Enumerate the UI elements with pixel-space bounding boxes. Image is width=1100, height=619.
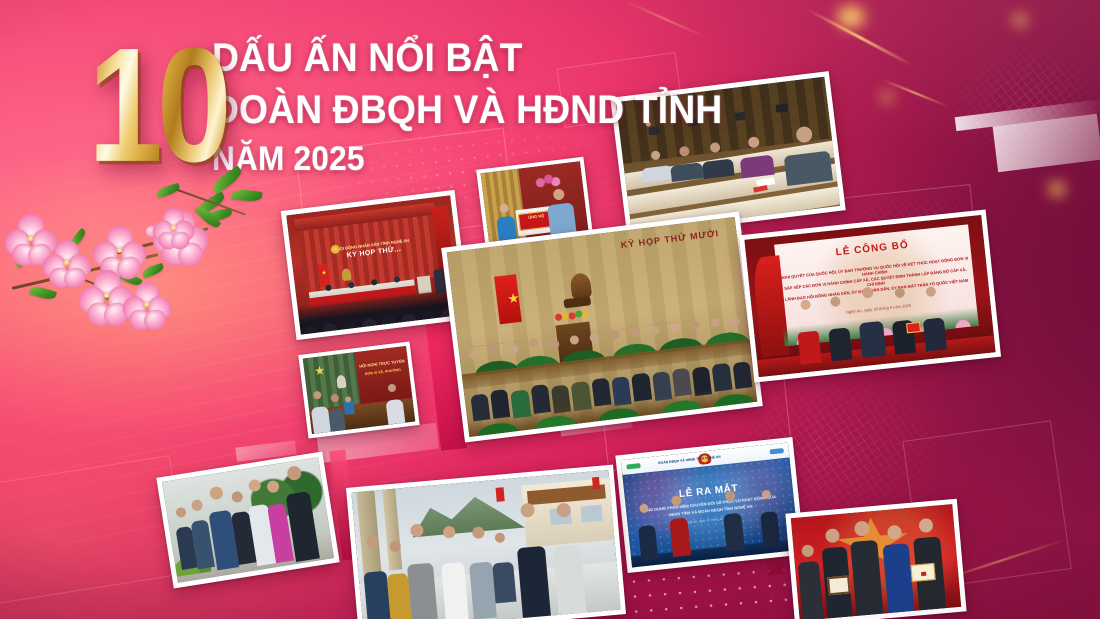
photo-card-award-ceremony[interactable] — [785, 499, 966, 619]
photo-card-announcement[interactable]: LỄ CÔNG BỐ NGHỊ QUYẾT CỦA QUỐC HỘI, ỦY B… — [739, 209, 1001, 382]
photo-card-session-ten[interactable]: KỲ HỌP THỨ MƯỜI — [441, 211, 763, 442]
poster-canvas: ỦNG HỘ HỘI ĐỒNG NHÂN DÂN TỈNH NGHỆ AN KỲ… — [0, 0, 1100, 619]
headline-line-3: NĂM 2025 — [212, 142, 789, 176]
headline-block: DẤU ẤN NỔI BẬT ĐOÀN ĐBQH VÀ HĐND TỈNH NĂ… — [212, 38, 832, 176]
headline-line-2: ĐOÀN ĐBQH VÀ HĐND TỈNH — [212, 90, 789, 130]
photo-card-online-conference[interactable]: HỘI NGHỊ TRỰC TUYẾN ĐƠN VỊ XÃ, PHƯỜNG — [298, 341, 419, 438]
photo-card-field-meeting[interactable] — [346, 465, 626, 619]
peach-blossom-sprig-icon — [150, 160, 280, 270]
photo-card-session-hall[interactable]: HỘI ĐỒNG NHÂN DÂN TỈNH NGHỆ AN KỲ HỌP TH… — [281, 190, 471, 340]
headline-line-1: DẤU ẤN NỔI BẬT — [212, 38, 789, 78]
photo-card-software-launch[interactable]: ĐOÀN ĐBQH VÀ HĐND TỈNH NGHỆ AN LỄ RA MẮT… — [615, 437, 804, 573]
